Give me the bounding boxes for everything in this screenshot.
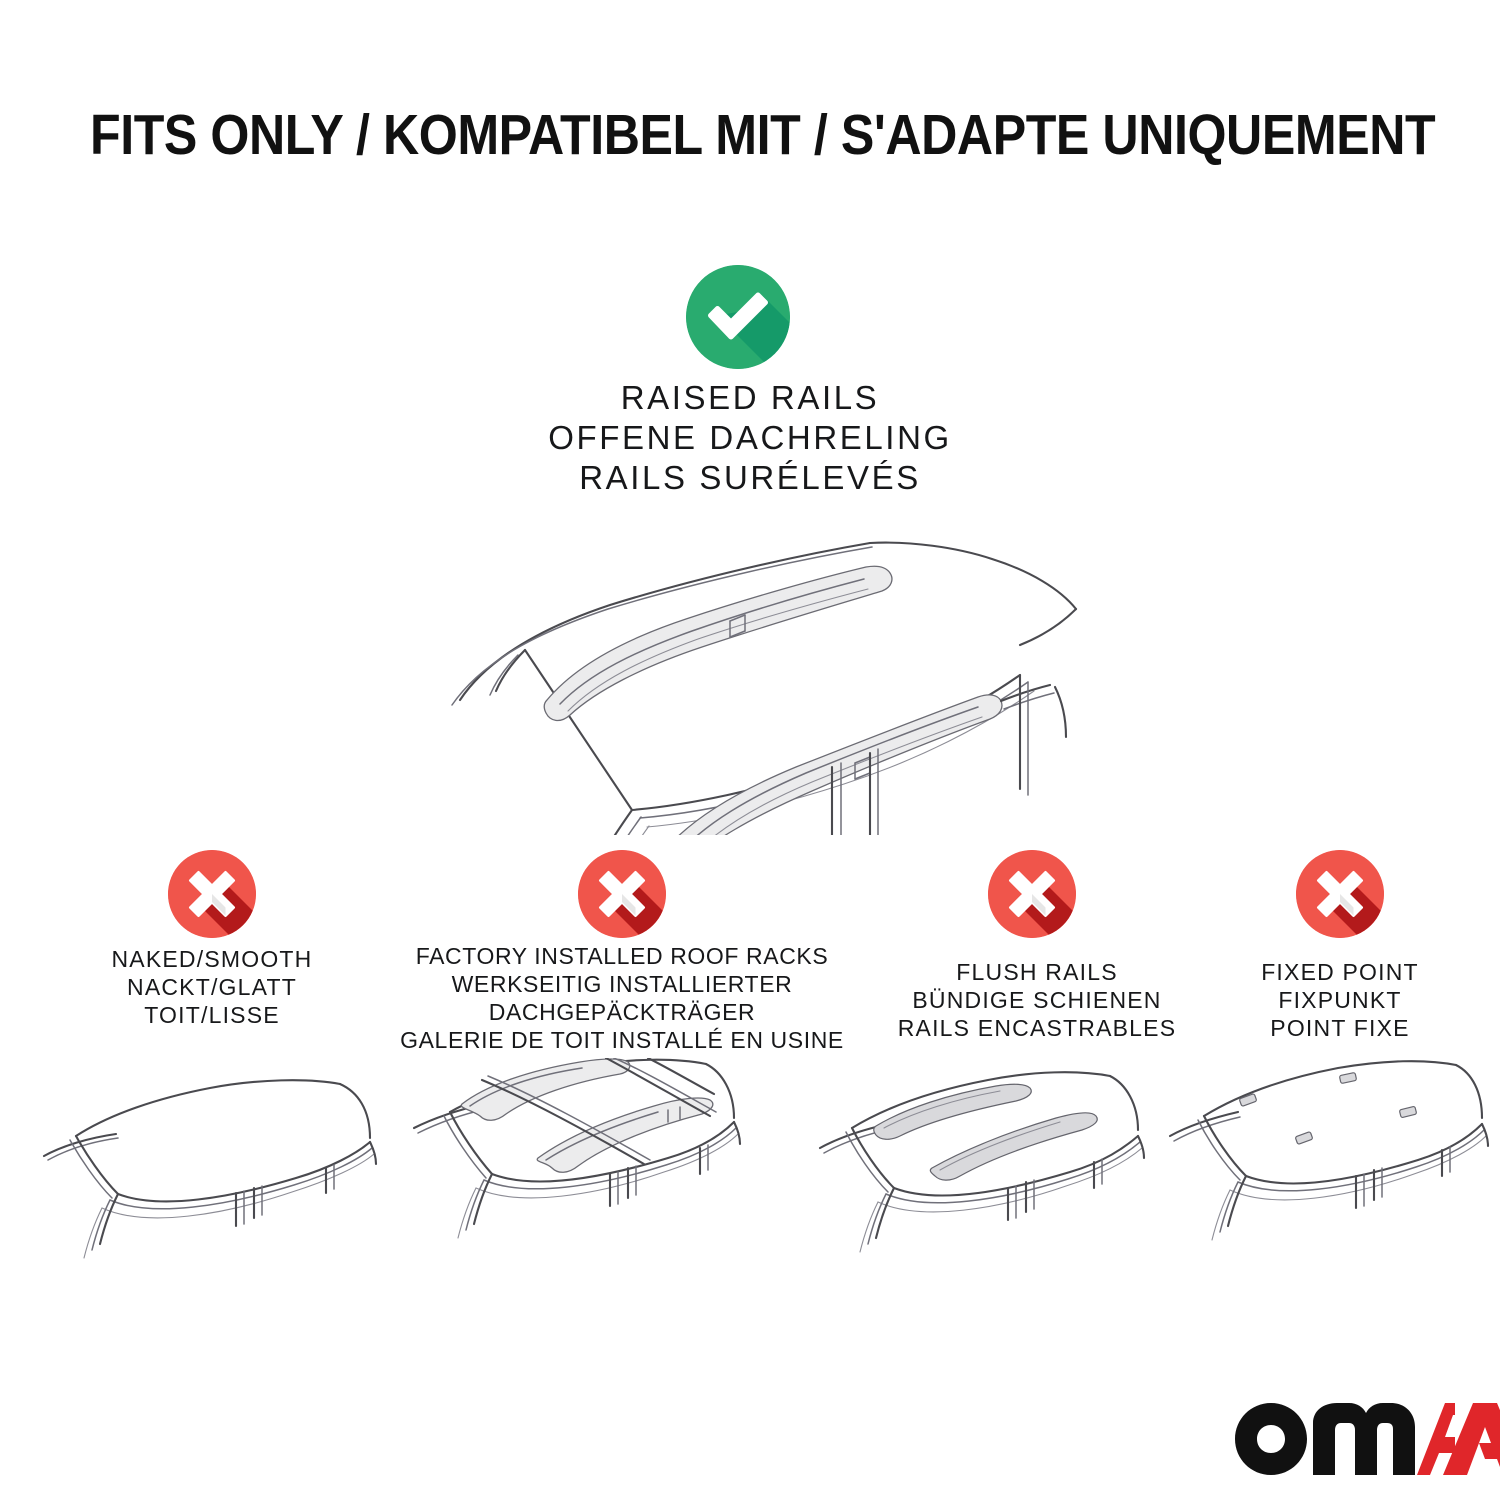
- naked-smooth-label-en: NAKED/SMOOTH: [42, 945, 382, 973]
- car-roof-fixed-point-drawing: [1160, 1058, 1500, 1308]
- factory-racks-label-en: FACTORY INSTALLED ROOF RACKS: [392, 942, 852, 970]
- x-circle-icon-naked-smooth: [168, 850, 256, 938]
- compatible-label-de: OFFENE DACHRELING: [250, 418, 1250, 458]
- factory-racks-label-de: WERKSEITIG INSTALLIERTER: [392, 970, 852, 998]
- x-circle-icon-factory-racks: [578, 850, 666, 938]
- factory-racks-label-de2: DACHGEPÄCKTRÄGER: [392, 998, 852, 1026]
- factory-racks-label-fr: GALERIE DE TOIT INSTALLÉ EN USINE: [392, 1026, 852, 1054]
- omac-logo: [1233, 1401, 1500, 1475]
- compatible-label-fr: RAILS SURÉLEVÉS: [250, 458, 1250, 498]
- flush-rails-label-de: BÜNDIGE SCHIENEN: [862, 986, 1212, 1014]
- car-roof-naked-smooth-drawing: [40, 1058, 420, 1308]
- fixed-point-label-fr: POINT FIXE: [1195, 1014, 1485, 1042]
- naked-smooth-label-de: NACKT/GLATT: [42, 973, 382, 1001]
- compatible-label-en: RAISED RAILS: [250, 378, 1250, 418]
- flush-rails-label-fr: RAILS ENCASTRABLES: [862, 1014, 1212, 1042]
- incompatible-caption-flush-rails: FLUSH RAILS BÜNDIGE SCHIENEN RAILS ENCAS…: [862, 958, 1212, 1042]
- car-roof-flush-rails-drawing: [800, 1058, 1180, 1308]
- page-title: FITS ONLY / KOMPATIBEL MIT / S'ADAPTE UN…: [90, 104, 1410, 166]
- flush-rails-label-en: FLUSH RAILS: [862, 958, 1212, 986]
- compatible-caption: RAISED RAILS OFFENE DACHRELING RAILS SUR…: [250, 378, 1250, 498]
- naked-smooth-label-fr: TOIT/LISSE: [42, 1001, 382, 1029]
- x-circle-icon-flush-rails: [988, 850, 1076, 938]
- incompatible-caption-fixed-point: FIXED POINT FIXPUNKT POINT FIXE: [1195, 958, 1485, 1042]
- fixed-point-label-en: FIXED POINT: [1195, 958, 1485, 986]
- incompatible-caption-naked-smooth: NAKED/SMOOTH NACKT/GLATT TOIT/LISSE: [42, 945, 382, 1029]
- x-circle-icon-fixed-point: [1296, 850, 1384, 938]
- car-roof-factory-roof-racks-drawing: [410, 1058, 790, 1308]
- fixed-point-label-de: FIXPUNKT: [1195, 986, 1485, 1014]
- check-circle-icon: [686, 265, 790, 369]
- incompatible-caption-factory-racks: FACTORY INSTALLED ROOF RACKS WERKSEITIG …: [392, 942, 852, 1054]
- car-roof-with-raised-rails-drawing: [400, 505, 1110, 835]
